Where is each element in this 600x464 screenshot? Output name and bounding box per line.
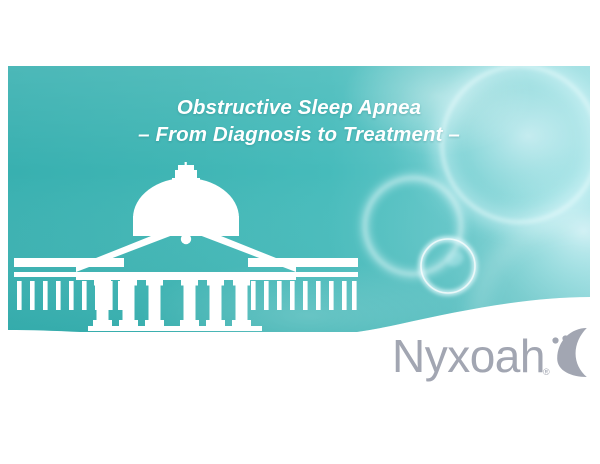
nyxoah-logo-svg: Nyxoah ® xyxy=(392,327,592,389)
title-slide: Obstructive Sleep Apnea – From Diagnosis… xyxy=(0,0,600,464)
teal-banner: Obstructive Sleep Apnea – From Diagnosis… xyxy=(8,66,590,332)
logo-wordmark: Nyxoah xyxy=(392,330,545,382)
nyxoah-logo: Nyxoah ® xyxy=(392,327,592,389)
crescent-moon-icon xyxy=(552,328,586,377)
base-steps xyxy=(78,326,272,332)
rotunda-building-illustration xyxy=(8,162,400,332)
colonnade xyxy=(93,280,251,326)
logo-trademark: ® xyxy=(543,367,550,377)
right-balustrade xyxy=(248,258,358,310)
